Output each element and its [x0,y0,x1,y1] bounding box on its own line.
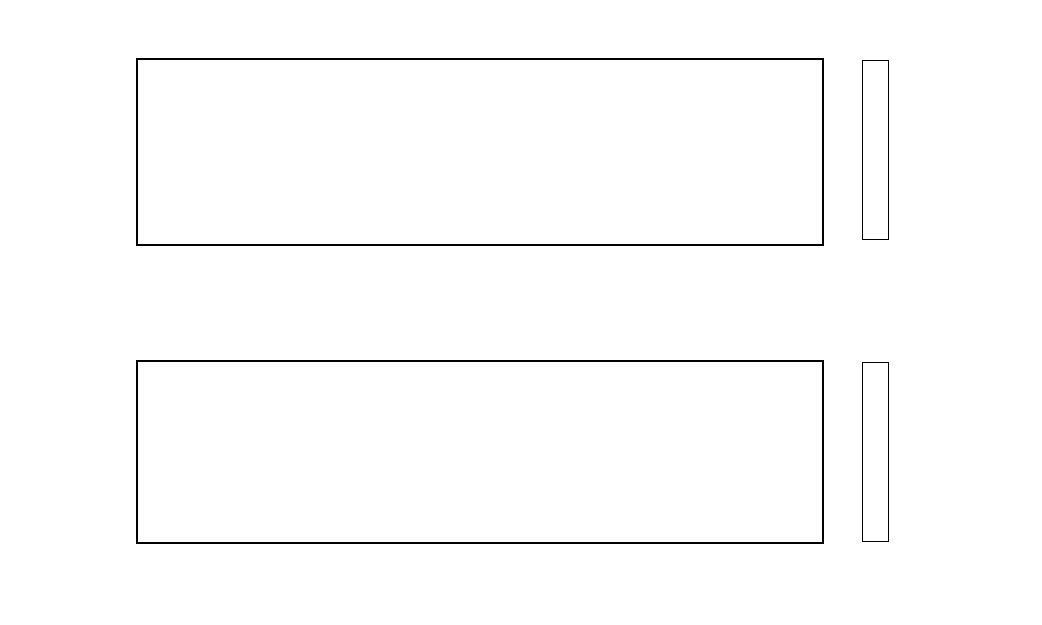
colorbar-gradient-bottom [863,363,888,541]
figure-canvas [0,0,1042,625]
colorbar-cloud-fraction [862,60,889,240]
colorbar-gradient-top [863,61,888,239]
plot-area-cloud-fraction [136,58,824,246]
colorbar-cloud-detection [862,362,889,542]
plot-area-cloud-detection [136,360,824,544]
cloud-fraction-heatmap [138,60,824,246]
cloud-detection-heatmap [138,362,824,544]
